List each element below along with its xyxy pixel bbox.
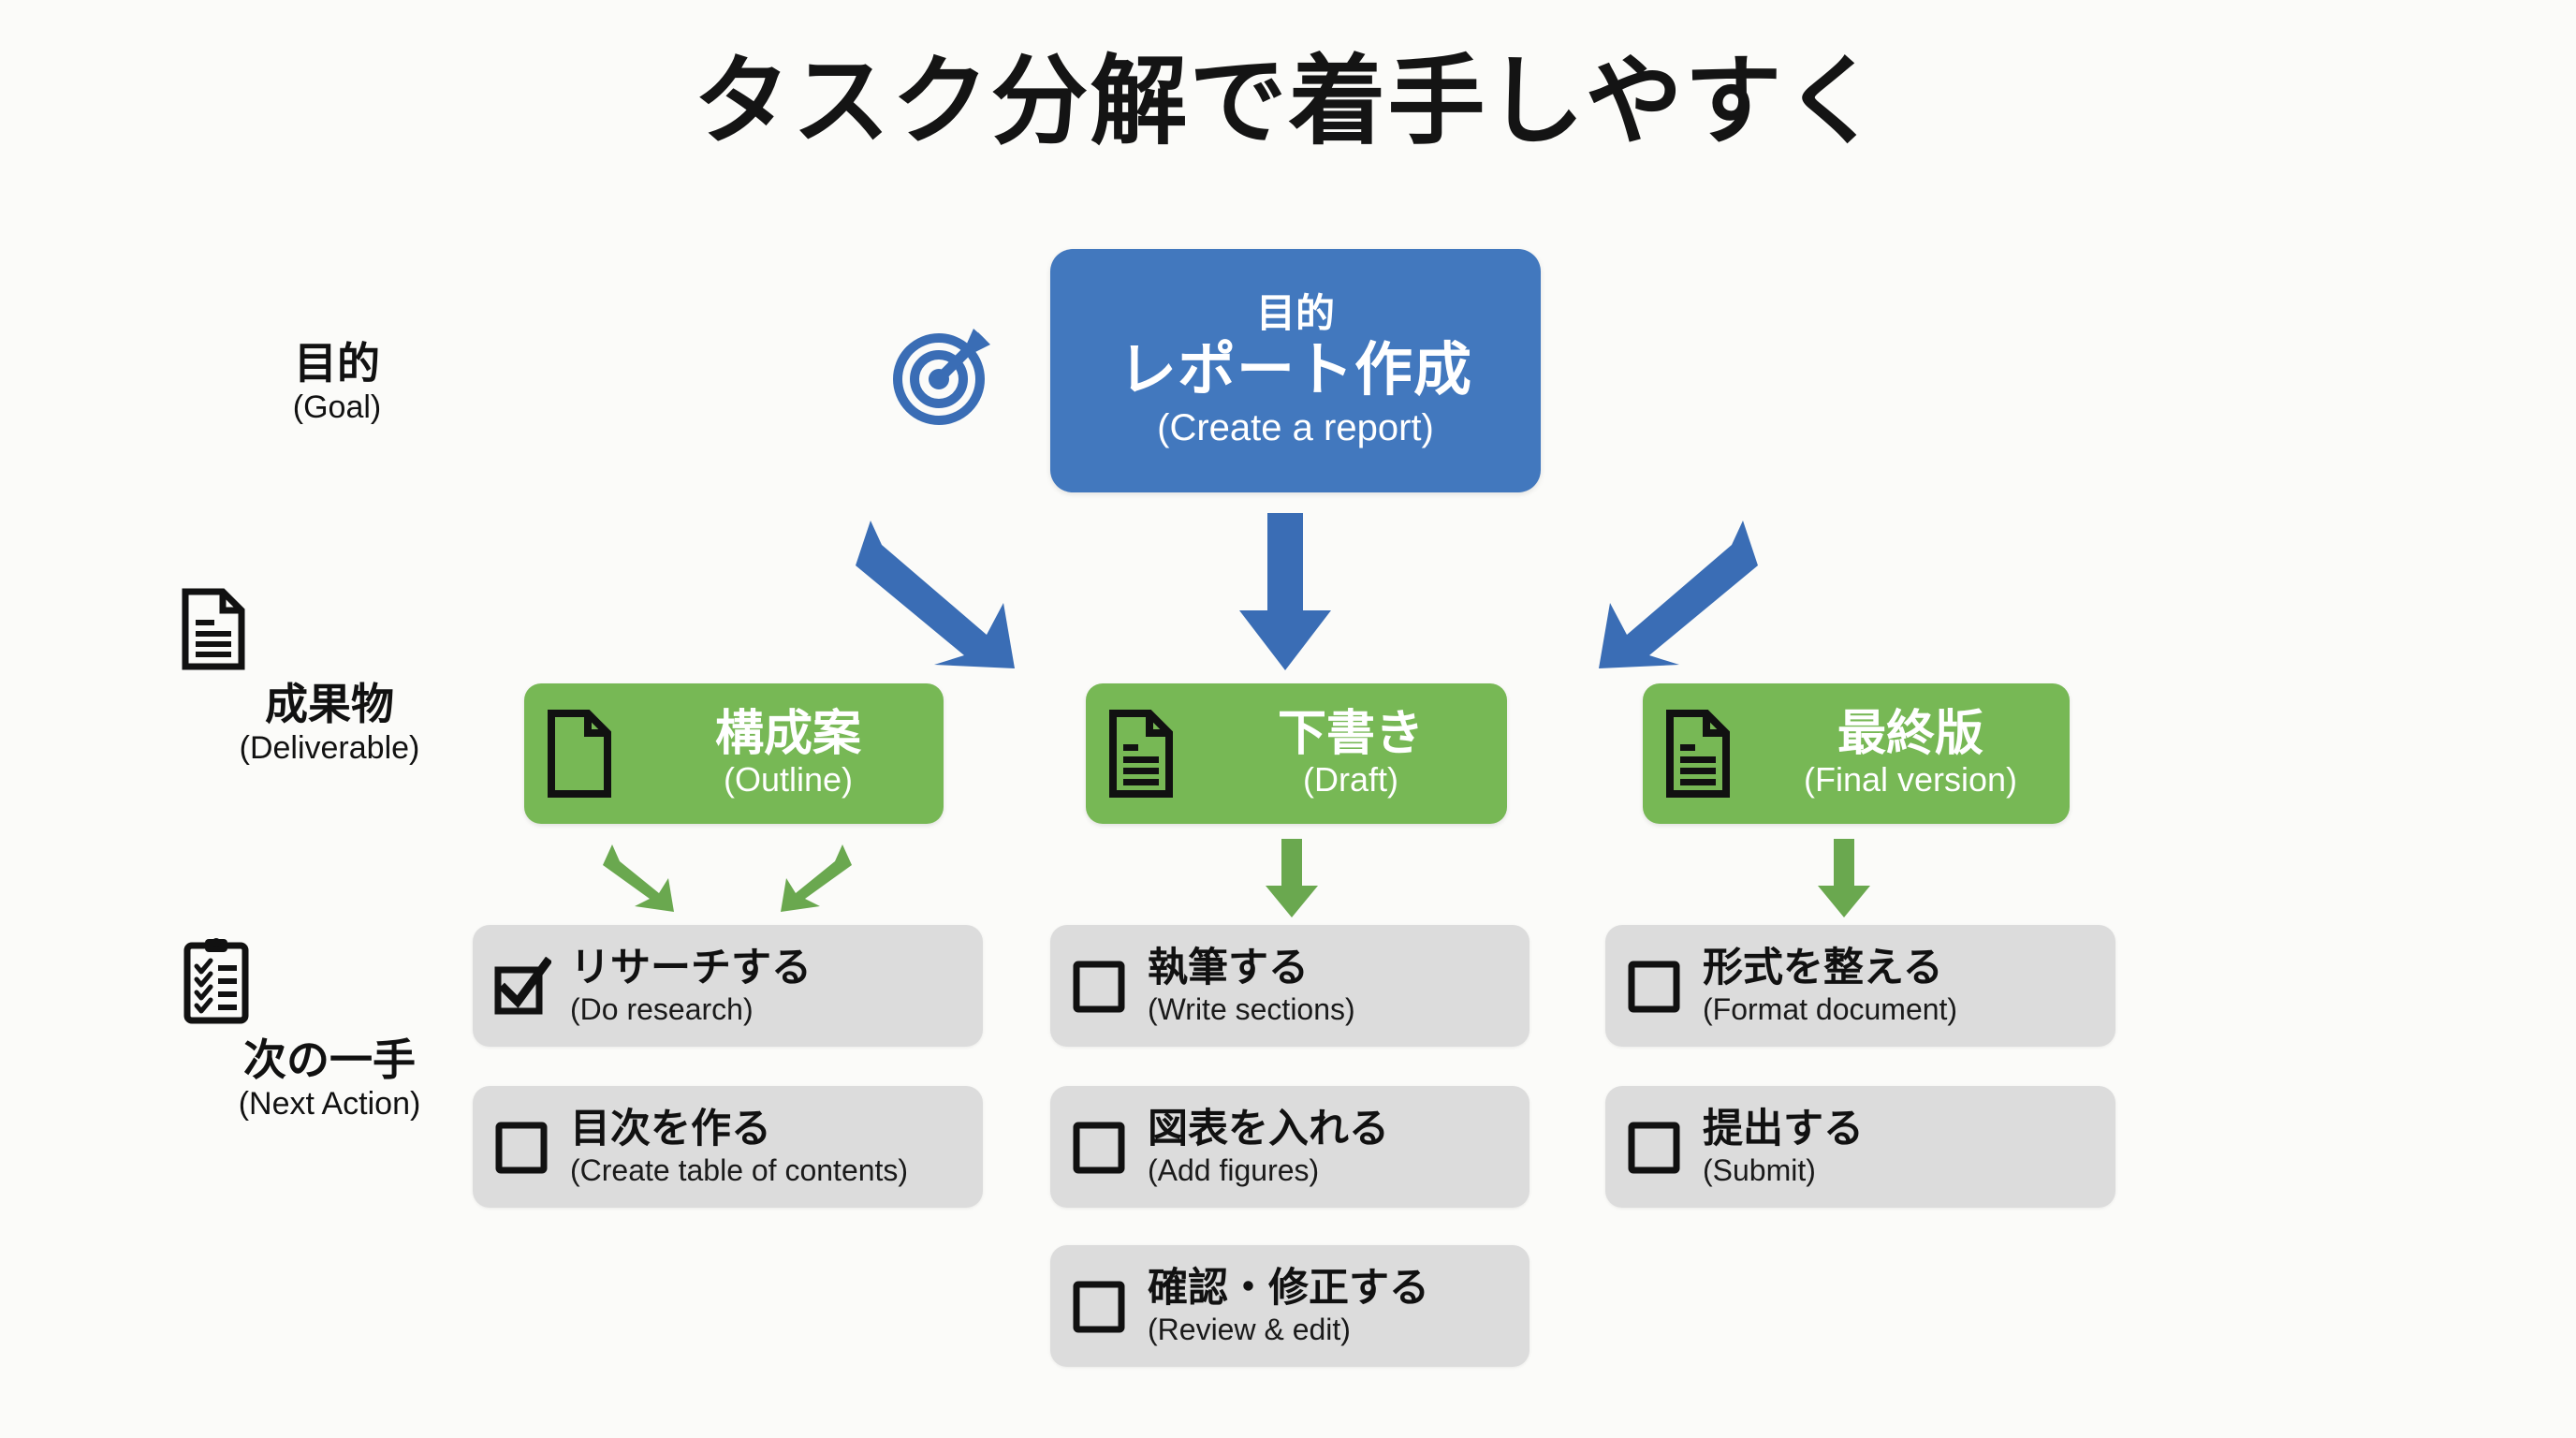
task-card[interactable]: 提出する (Submit): [1605, 1086, 2115, 1208]
task-label-en: (Do research): [570, 992, 812, 1027]
row-label-goal-jp: 目的: [187, 339, 487, 389]
arrow-draft-to-tasks: [1262, 839, 1322, 919]
lined-page-icon: [1106, 709, 1176, 799]
task-label-en: (Review & edit): [1148, 1313, 1429, 1347]
row-label-deliverable-en: (Deliverable): [180, 729, 479, 768]
checkbox-unchecked-icon[interactable]: [1626, 957, 1684, 1015]
deliverable-card-draft[interactable]: 下書き (Draft): [1086, 683, 1507, 824]
arrow-goal-to-draft: [1234, 513, 1337, 672]
task-label-jp: 目次を作る: [570, 1107, 908, 1152]
task-card[interactable]: リサーチする (Do research): [473, 925, 983, 1047]
checkbox-unchecked-icon[interactable]: [493, 1118, 551, 1176]
deliverable-card-draft-en: (Draft): [1303, 760, 1398, 799]
task-label-en: (Format document): [1703, 992, 1957, 1027]
task-label-en: (Submit): [1703, 1153, 1864, 1188]
task-label-jp: 確認・修正する: [1148, 1266, 1429, 1311]
deliverable-card-final-jp: 最終版: [1837, 708, 1983, 760]
document-icon: [180, 588, 479, 670]
task-label-jp: 形式を整える: [1703, 946, 1957, 990]
diagram-canvas: タスク分解で着手しやすく 目的 (Goal) 成果物 (Deliverable): [0, 0, 2576, 1438]
clipboard-checklist-icon: [180, 936, 479, 1026]
checkbox-unchecked-icon[interactable]: [1071, 1277, 1129, 1335]
task-label-jp: 執筆する: [1148, 946, 1355, 990]
deliverable-card-draft-jp: 下書き: [1278, 708, 1424, 760]
deliverable-card-outline-en: (Outline): [724, 760, 853, 799]
deliverable-card-final-en: (Final version): [1804, 760, 2017, 799]
row-label-next-action: 次の一手 (Next Action): [180, 936, 479, 1123]
arrow-goal-to-final: [1582, 513, 1760, 672]
task-label-jp: 提出する: [1703, 1107, 1864, 1152]
row-label-goal-en: (Goal): [187, 389, 487, 427]
row-label-next-action-jp: 次の一手: [180, 1035, 479, 1085]
task-card[interactable]: 目次を作る (Create table of contents): [473, 1086, 983, 1208]
task-card[interactable]: 執筆する (Write sections): [1050, 925, 1529, 1047]
task-label-jp: リサーチする: [570, 946, 812, 990]
task-card[interactable]: 図表を入れる (Add figures): [1050, 1086, 1529, 1208]
task-card[interactable]: 確認・修正する (Review & edit): [1050, 1245, 1529, 1367]
checkbox-unchecked-icon[interactable]: [1071, 1118, 1129, 1176]
task-card[interactable]: 形式を整える (Format document): [1605, 925, 2115, 1047]
blank-page-icon: [545, 709, 614, 799]
row-label-deliverable-jp: 成果物: [180, 680, 479, 729]
task-label-en: (Write sections): [1148, 992, 1355, 1027]
goal-card-subtitle: (Create a report): [1157, 406, 1434, 449]
arrow-outline-to-toc: [775, 841, 856, 917]
goal-card-label: 目的: [1256, 292, 1335, 335]
arrow-outline-to-research: [599, 841, 680, 917]
task-label-jp: 図表を入れる: [1148, 1107, 1389, 1152]
goal-card[interactable]: 目的 レポート作成 (Create a report): [1050, 249, 1541, 492]
task-label-en: (Create table of contents): [570, 1153, 908, 1188]
task-label-en: (Add figures): [1148, 1153, 1389, 1188]
row-label-goal: 目的 (Goal): [187, 339, 487, 427]
arrow-goal-to-outline: [854, 513, 1032, 672]
target-arrow-icon: [887, 318, 1000, 431]
deliverable-card-outline-jp: 構成案: [715, 708, 861, 760]
checkbox-unchecked-icon[interactable]: [1071, 957, 1129, 1015]
checkbox-unchecked-icon[interactable]: [1626, 1118, 1684, 1176]
deliverable-card-outline[interactable]: 構成案 (Outline): [524, 683, 944, 824]
arrow-final-to-tasks: [1814, 839, 1874, 919]
page-title: タスク分解で着手しやすく: [0, 49, 2576, 155]
lined-page-icon: [1663, 709, 1733, 799]
row-label-next-action-en: (Next Action): [180, 1085, 479, 1123]
deliverable-card-final[interactable]: 最終版 (Final version): [1643, 683, 2070, 824]
goal-card-title: レポート作成: [1119, 340, 1472, 403]
checkbox-checked-icon[interactable]: [493, 957, 551, 1015]
row-label-deliverable: 成果物 (Deliverable): [180, 588, 479, 768]
